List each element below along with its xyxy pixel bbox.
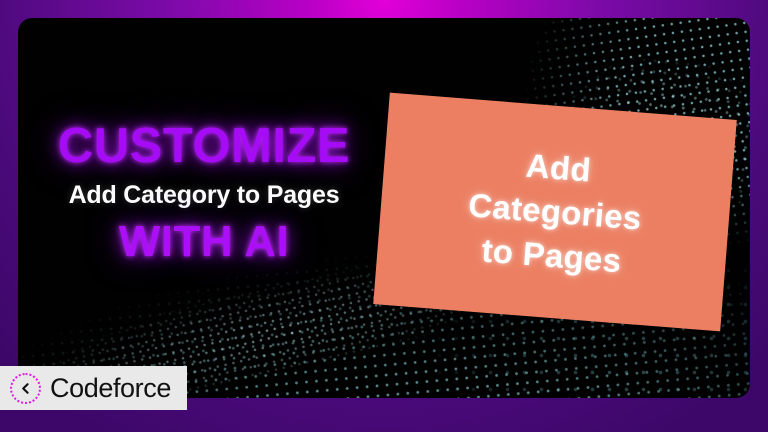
- headline-subtitle: Add Category to Pages: [54, 181, 354, 210]
- brand-badge: Codeforce: [0, 366, 187, 410]
- headline-eyebrow: CUSTOMIZE: [18, 122, 390, 171]
- category-card-text: Add Categories to Pages: [463, 139, 646, 285]
- brand-name: Codeforce: [50, 375, 171, 402]
- headline-block: CUSTOMIZE Add Category to Pages WITH AI: [18, 122, 390, 264]
- category-card: Add Categories to Pages: [373, 93, 737, 332]
- youtube-thumbnail: CUSTOMIZE Add Category to Pages WITH AI …: [0, 0, 768, 432]
- headline-footer: WITH AI: [18, 220, 390, 264]
- chevron-left-icon: [10, 373, 41, 404]
- thumbnail-stage: CUSTOMIZE Add Category to Pages WITH AI …: [18, 18, 750, 398]
